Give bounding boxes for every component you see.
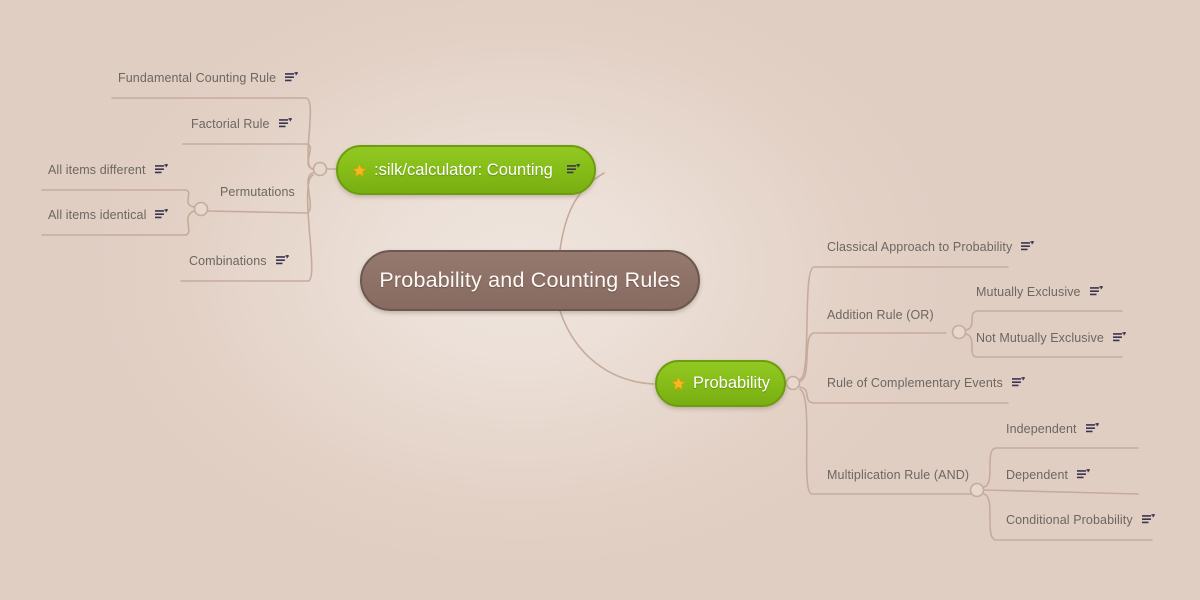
- note-add-icon[interactable]: [276, 255, 289, 267]
- leaf-rule-of-complementary-events[interactable]: Rule of Complementary Events: [827, 376, 1025, 390]
- leaf-label: Dependent: [1006, 468, 1068, 482]
- leaf-label: Factorial Rule: [191, 117, 270, 131]
- star-icon: [352, 163, 367, 178]
- note-add-icon[interactable]: [1021, 241, 1034, 253]
- leaf-label: Addition Rule (OR): [827, 308, 934, 322]
- note-add-icon[interactable]: [1090, 286, 1103, 298]
- branch-node-counting-label: :silk/calculator: Counting: [374, 161, 553, 180]
- branch-node-probability[interactable]: Probability: [655, 360, 786, 407]
- leaf-all-items-identical[interactable]: All items identical: [48, 208, 168, 222]
- leaf-label: Conditional Probability: [1006, 513, 1133, 527]
- leaf-label: Permutations: [220, 185, 295, 199]
- central-node-label: Probability and Counting Rules: [379, 268, 680, 293]
- leaf-label: Not Mutually Exclusive: [976, 331, 1104, 345]
- leaf-classical-approach-to-probability[interactable]: Classical Approach to Probability: [827, 240, 1034, 254]
- leaf-mutually-exclusive[interactable]: Mutually Exclusive: [976, 285, 1103, 299]
- mindmap-canvas: Probability and Counting Rules :silk/cal…: [0, 0, 1200, 600]
- star-icon: [671, 376, 686, 391]
- leaf-label: Combinations: [189, 254, 267, 268]
- leaf-label: Multiplication Rule (AND): [827, 468, 969, 482]
- note-add-icon[interactable]: [1012, 377, 1025, 389]
- leaf-label: Rule of Complementary Events: [827, 376, 1003, 390]
- leaf-label: Independent: [1006, 422, 1077, 436]
- note-add-icon[interactable]: [567, 164, 580, 176]
- note-add-icon[interactable]: [279, 118, 292, 130]
- leaf-permutations[interactable]: Permutations: [220, 185, 295, 199]
- note-add-icon[interactable]: [155, 164, 168, 176]
- note-add-icon[interactable]: [1077, 469, 1090, 481]
- leaf-conditional-probability[interactable]: Conditional Probability: [1006, 513, 1155, 527]
- joint-counting: [314, 163, 327, 176]
- leaf-addition-rule-or[interactable]: Addition Rule (OR): [827, 308, 934, 322]
- branch-node-counting[interactable]: :silk/calculator: Counting: [336, 145, 596, 195]
- note-add-icon[interactable]: [1086, 423, 1099, 435]
- leaf-combinations[interactable]: Combinations: [189, 254, 289, 268]
- note-add-icon[interactable]: [285, 72, 298, 84]
- joint-permutations: [195, 203, 208, 216]
- leaf-not-mutually-exclusive[interactable]: Not Mutually Exclusive: [976, 331, 1126, 345]
- leaf-all-items-different[interactable]: All items different: [48, 163, 168, 177]
- leaf-dependent[interactable]: Dependent: [1006, 468, 1090, 482]
- joint-addition-rule: [953, 326, 966, 339]
- leaf-label: Classical Approach to Probability: [827, 240, 1012, 254]
- note-add-icon[interactable]: [155, 209, 168, 221]
- central-node[interactable]: Probability and Counting Rules: [360, 250, 700, 311]
- leaf-label: All items different: [48, 163, 146, 177]
- leaf-label: All items identical: [48, 208, 146, 222]
- leaf-label: Fundamental Counting Rule: [118, 71, 276, 85]
- joint-multiplication-rule: [971, 484, 984, 497]
- leaf-label: Mutually Exclusive: [976, 285, 1081, 299]
- note-add-icon[interactable]: [1142, 514, 1155, 526]
- leaf-factorial-rule[interactable]: Factorial Rule: [191, 117, 292, 131]
- branch-node-probability-label: Probability: [693, 374, 770, 393]
- leaf-fundamental-counting-rule[interactable]: Fundamental Counting Rule: [118, 71, 298, 85]
- joint-probability: [787, 377, 800, 390]
- leaf-independent[interactable]: Independent: [1006, 422, 1099, 436]
- note-add-icon[interactable]: [1113, 332, 1126, 344]
- leaf-multiplication-rule-and[interactable]: Multiplication Rule (AND): [827, 468, 969, 482]
